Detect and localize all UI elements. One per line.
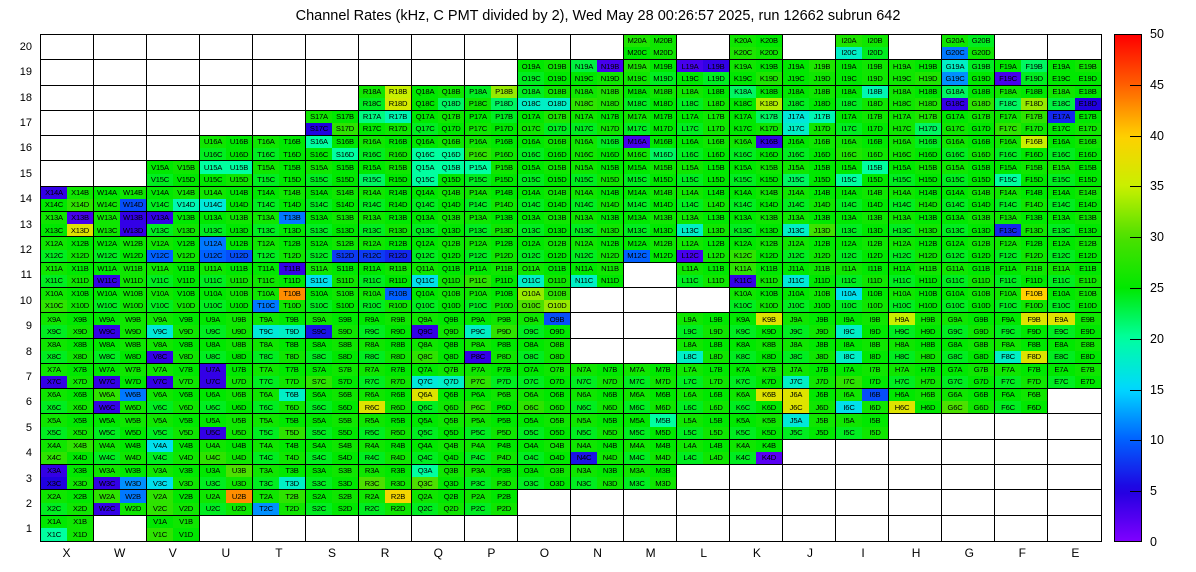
channel-R13A[interactable]: R13A <box>359 212 385 224</box>
channel-I13D[interactable]: I13D <box>862 224 888 236</box>
channel-Q4A[interactable]: Q4A <box>412 440 438 452</box>
heatmap-cell-Q20[interactable] <box>412 35 465 60</box>
heatmap-cell-J13[interactable]: J13AJ13BJ13CJ13D <box>783 212 836 237</box>
channel-H11B[interactable]: H11B <box>915 263 941 275</box>
channel-R2C[interactable]: R2C <box>359 503 385 515</box>
channel-G6A[interactable]: G6A <box>942 389 968 401</box>
heatmap-cell-Q1[interactable] <box>412 516 465 541</box>
channel-P4D[interactable]: P4D <box>491 452 517 464</box>
channel-V13A[interactable]: V13A <box>147 212 173 224</box>
heatmap-cell-F10[interactable]: F10AF10BF10CF10D <box>995 288 1048 313</box>
channel-Q8D[interactable]: Q8D <box>438 351 464 363</box>
channel-Q16D[interactable]: Q16D <box>438 148 464 160</box>
heatmap-cell-P7[interactable]: P7AP7BP7CP7D <box>465 364 518 389</box>
channel-L8B[interactable]: L8B <box>703 339 729 351</box>
channel-W4D[interactable]: W4D <box>120 452 146 464</box>
channel-O5D[interactable]: O5D <box>544 427 570 439</box>
heatmap-cell-O10[interactable]: O10AO10BO10CO10D <box>518 288 571 313</box>
channel-N13A[interactable]: N13A <box>571 212 597 224</box>
channel-E17B[interactable]: E17B <box>1075 111 1102 123</box>
channel-U16D[interactable]: U16D <box>226 148 252 160</box>
heatmap-cell-J3[interactable] <box>783 465 836 490</box>
channel-P14C[interactable]: P14C <box>465 199 491 211</box>
channel-P12C[interactable]: P12C <box>465 250 491 262</box>
channel-Q9D[interactable]: Q9D <box>438 325 464 337</box>
channel-I19A[interactable]: I19A <box>836 60 862 72</box>
heatmap-cell-W19[interactable] <box>94 60 147 85</box>
channel-L17C[interactable]: L17C <box>677 123 703 135</box>
channel-Q10A[interactable]: Q10A <box>412 288 438 300</box>
channel-F12B[interactable]: F12B <box>1021 237 1047 249</box>
channel-R17C[interactable]: R17C <box>359 123 385 135</box>
heatmap-cell-V13[interactable]: V13AV13BV13CV13D <box>147 212 200 237</box>
heatmap-cell-G7[interactable]: G7AG7BG7CG7D <box>942 364 995 389</box>
channel-U8C[interactable]: U8C <box>200 351 226 363</box>
channel-S15B[interactable]: S15B <box>332 161 358 173</box>
channel-F15D[interactable]: F15D <box>1021 174 1047 186</box>
heatmap-cell-E14[interactable]: E14AE14BE14CE14D <box>1048 187 1101 212</box>
channel-O17B[interactable]: O17B <box>544 111 570 123</box>
channel-K19B[interactable]: K19B <box>756 60 782 72</box>
channel-L11A[interactable]: L11A <box>677 263 703 275</box>
channel-Q6D[interactable]: Q6D <box>438 401 464 413</box>
channel-I11C[interactable]: I11C <box>836 275 862 287</box>
heatmap-cell-L5[interactable]: L5AL5BL5CL5D <box>677 414 730 439</box>
channel-G7C[interactable]: G7C <box>942 376 968 388</box>
channel-S10D[interactable]: S10D <box>332 300 358 312</box>
heatmap-cell-W3[interactable]: W3AW3BW3CW3D <box>94 465 147 490</box>
heatmap-cell-I6[interactable]: I6AI6BI6CI6D <box>836 389 889 414</box>
channel-M4D[interactable]: M4D <box>650 452 676 464</box>
channel-T9C[interactable]: T9C <box>253 325 279 337</box>
channel-I10D[interactable]: I10D <box>862 300 888 312</box>
channel-N14A[interactable]: N14A <box>571 187 597 199</box>
heatmap-cell-T7[interactable]: T7AT7BT7CT7D <box>253 364 306 389</box>
heatmap-cell-L1[interactable] <box>677 516 730 541</box>
channel-L9B[interactable]: L9B <box>703 313 729 325</box>
channel-O11C[interactable]: O11C <box>518 275 544 287</box>
channel-T2A[interactable]: T2A <box>253 490 279 502</box>
channel-O4D[interactable]: O4D <box>544 452 570 464</box>
channel-K15B[interactable]: K15B <box>756 161 782 173</box>
channel-K11A[interactable]: K11A <box>730 263 756 275</box>
channel-K16A[interactable]: K16A <box>730 136 756 148</box>
channel-W9C[interactable]: W9C <box>94 325 120 337</box>
channel-N18B[interactable]: N18B <box>597 86 623 98</box>
channel-L14A[interactable]: L14A <box>677 187 703 199</box>
channel-K13A[interactable]: K13A <box>730 212 756 224</box>
channel-L13B[interactable]: L13B <box>703 212 729 224</box>
channel-W10D[interactable]: W10D <box>120 300 146 312</box>
heatmap-cell-X9[interactable]: X9AX9BX9CX9D <box>41 313 94 338</box>
channel-U14D[interactable]: U14D <box>226 199 252 211</box>
channel-P3B[interactable]: P3B <box>491 465 517 477</box>
channel-M6B[interactable]: M6B <box>650 389 676 401</box>
channel-P12D[interactable]: P12D <box>491 250 517 262</box>
channel-F6D[interactable]: F6D <box>1021 401 1047 413</box>
channel-Q10D[interactable]: Q10D <box>438 300 464 312</box>
channel-I8A[interactable]: I8A <box>836 339 862 351</box>
channel-Q11C[interactable]: Q11C <box>412 275 438 287</box>
channel-O3C[interactable]: O3C <box>518 477 544 489</box>
heatmap-cell-O12[interactable]: O12AO12BO12CO12D <box>518 237 571 262</box>
channel-S3A[interactable]: S3A <box>306 465 332 477</box>
channel-I18A[interactable]: I18A <box>836 86 862 98</box>
channel-R9D[interactable]: R9D <box>385 325 411 337</box>
heatmap-cell-J7[interactable]: J7AJ7BJ7CJ7D <box>783 364 836 389</box>
channel-W14C[interactable]: W14C <box>94 199 120 211</box>
channel-M17A[interactable]: M17A <box>624 111 650 123</box>
channel-O19A[interactable]: O19A <box>518 60 544 72</box>
heatmap-cell-M6[interactable]: M6AM6BM6CM6D <box>624 389 677 414</box>
channel-L6D[interactable]: L6D <box>703 401 729 413</box>
heatmap-cell-W20[interactable] <box>94 35 147 60</box>
channel-F13A[interactable]: F13A <box>995 212 1021 224</box>
channel-I16D[interactable]: I16D <box>862 148 888 160</box>
channel-O12A[interactable]: O12A <box>518 237 544 249</box>
channel-T14A[interactable]: T14A <box>253 187 279 199</box>
heatmap-cell-R4[interactable]: R4AR4BR4CR4D <box>359 440 412 465</box>
channel-S7B[interactable]: S7B <box>332 364 358 376</box>
channel-O17D[interactable]: O17D <box>544 123 570 135</box>
heatmap-cell-N16[interactable]: N16AN16BN16CN16D <box>571 136 624 161</box>
channel-U2A[interactable]: U2A <box>200 490 226 502</box>
heatmap-cell-N13[interactable]: N13AN13BN13CN13D <box>571 212 624 237</box>
channel-O6A[interactable]: O6A <box>518 389 544 401</box>
channel-G13A[interactable]: G13A <box>942 212 968 224</box>
heatmap-cell-K4[interactable]: K4AK4BK4CK4D <box>730 440 783 465</box>
channel-G7B[interactable]: G7B <box>968 364 994 376</box>
channel-L11C[interactable]: L11C <box>677 275 703 287</box>
heatmap-cell-E13[interactable]: E13AE13BE13CE13D <box>1048 212 1101 237</box>
channel-T12D[interactable]: T12D <box>279 250 305 262</box>
channel-J15B[interactable]: J15B <box>809 161 835 173</box>
channel-E7D[interactable]: E7D <box>1075 376 1102 388</box>
heatmap-cell-F15[interactable]: F15AF15BF15CF15D <box>995 161 1048 186</box>
channel-W9A[interactable]: W9A <box>94 313 120 325</box>
heatmap-cell-K14[interactable]: K14AK14BK14CK14D <box>730 187 783 212</box>
channel-U2C[interactable]: U2C <box>200 503 226 515</box>
channel-L14B[interactable]: L14B <box>703 187 729 199</box>
channel-U12D[interactable]: U12D <box>226 250 252 262</box>
heatmap-cell-N18[interactable]: N18AN18BN18CN18D <box>571 86 624 111</box>
heatmap-cell-K6[interactable]: K6AK6BK6CK6D <box>730 389 783 414</box>
heatmap-cell-X1[interactable]: X1AX1BX1CX1D <box>41 516 94 541</box>
channel-R3D[interactable]: R3D <box>385 477 411 489</box>
channel-J15D[interactable]: J15D <box>809 174 835 186</box>
heatmap-cell-F20[interactable] <box>995 35 1048 60</box>
channel-T6D[interactable]: T6D <box>279 401 305 413</box>
channel-K15D[interactable]: K15D <box>756 174 782 186</box>
channel-Q7D[interactable]: Q7D <box>438 376 464 388</box>
heatmap-cell-H20[interactable] <box>889 35 942 60</box>
channel-G14A[interactable]: G14A <box>942 187 968 199</box>
channel-V9B[interactable]: V9B <box>173 313 199 325</box>
channel-O10B[interactable]: O10B <box>544 288 570 300</box>
channel-X3C[interactable]: X3C <box>41 477 67 489</box>
channel-P11C[interactable]: P11C <box>465 275 491 287</box>
channel-O11A[interactable]: O11A <box>518 263 544 275</box>
heatmap-cell-P20[interactable] <box>465 35 518 60</box>
heatmap-cell-L9[interactable]: L9AL9BL9CL9D <box>677 313 730 338</box>
channel-P6B[interactable]: P6B <box>491 389 517 401</box>
heatmap-cell-K17[interactable]: K17AK17BK17CK17D <box>730 111 783 136</box>
channel-I17C[interactable]: I17C <box>836 123 862 135</box>
channel-H17C[interactable]: H17C <box>889 123 915 135</box>
channel-R5A[interactable]: R5A <box>359 414 385 426</box>
channel-R12B[interactable]: R12B <box>385 237 411 249</box>
channel-U12B[interactable]: U12B <box>226 237 252 249</box>
channel-K7D[interactable]: K7D <box>756 376 782 388</box>
heatmap-cell-L18[interactable]: L18AL18BL18CL18D <box>677 86 730 111</box>
channel-I6B[interactable]: I6B <box>862 389 888 401</box>
channel-T16C[interactable]: T16C <box>253 148 279 160</box>
channel-G6C[interactable]: G6C <box>942 401 968 413</box>
channel-V15C[interactable]: V15C <box>147 174 173 186</box>
channel-I5B[interactable]: I5B <box>862 414 888 426</box>
channel-E14B[interactable]: E14B <box>1075 187 1102 199</box>
channel-W7C[interactable]: W7C <box>94 376 120 388</box>
heatmap-cell-X4[interactable]: X4AX4BX4CX4D <box>41 440 94 465</box>
channel-S7A[interactable]: S7A <box>306 364 332 376</box>
heatmap-cell-I17[interactable]: I17AI17BI17CI17D <box>836 111 889 136</box>
channel-K20A[interactable]: K20A <box>730 35 756 47</box>
channel-J5D[interactable]: J5D <box>809 427 835 439</box>
heatmap-cell-X8[interactable]: X8AX8BX8CX8D <box>41 339 94 364</box>
heatmap-cell-E7[interactable]: E7AE7BE7CE7D <box>1048 364 1101 389</box>
heatmap-cell-K18[interactable]: K18AK18BK18CK18D <box>730 86 783 111</box>
channel-M6A[interactable]: M6A <box>624 389 650 401</box>
heatmap-cell-X13[interactable]: X13AX13BX13CX13D <box>41 212 94 237</box>
channel-W12A[interactable]: W12A <box>94 237 120 249</box>
heatmap-cell-M19[interactable]: M19AM19BM19CM19D <box>624 60 677 85</box>
channel-X4D[interactable]: X4D <box>67 452 93 464</box>
channel-W7B[interactable]: W7B <box>120 364 146 376</box>
channel-S15C[interactable]: S15C <box>306 174 332 186</box>
channel-H19D[interactable]: H19D <box>915 72 941 84</box>
heatmap-cell-K5[interactable]: K5AK5BK5CK5D <box>730 414 783 439</box>
channel-T2C[interactable]: T2C <box>253 503 279 515</box>
channel-E11D[interactable]: E11D <box>1075 275 1102 287</box>
channel-K6A[interactable]: K6A <box>730 389 756 401</box>
channel-N3B[interactable]: N3B <box>597 465 623 477</box>
channel-L8D[interactable]: L8D <box>703 351 729 363</box>
channel-M7A[interactable]: M7A <box>624 364 650 376</box>
channel-L12B[interactable]: L12B <box>703 237 729 249</box>
heatmap-cell-J1[interactable] <box>783 516 836 541</box>
channel-M20B[interactable]: M20B <box>650 35 676 47</box>
channel-I13C[interactable]: I13C <box>836 224 862 236</box>
heatmap-cell-R8[interactable]: R8AR8BR8CR8D <box>359 339 412 364</box>
channel-T8A[interactable]: T8A <box>253 339 279 351</box>
channel-K18A[interactable]: K18A <box>730 86 756 98</box>
channel-W8A[interactable]: W8A <box>94 339 120 351</box>
channel-K20C[interactable]: K20C <box>730 47 756 59</box>
channel-K15C[interactable]: K15C <box>730 174 756 186</box>
heatmap-cell-P3[interactable]: P3AP3BP3CP3D <box>465 465 518 490</box>
heatmap-cell-M13[interactable]: M13AM13BM13CM13D <box>624 212 677 237</box>
channel-N17C[interactable]: N17C <box>571 123 597 135</box>
channel-O9C[interactable]: O9C <box>518 325 544 337</box>
channel-I8B[interactable]: I8B <box>862 339 888 351</box>
channel-V11D[interactable]: V11D <box>173 275 199 287</box>
channel-I18B[interactable]: I18B <box>862 86 888 98</box>
channel-O5A[interactable]: O5A <box>518 414 544 426</box>
channel-E10A[interactable]: E10A <box>1048 288 1075 300</box>
channel-S8C[interactable]: S8C <box>306 351 332 363</box>
heatmap-cell-I20[interactable]: I20AI20BI20CI20D <box>836 35 889 60</box>
heatmap-cell-Q18[interactable]: Q18AQ18BQ18CQ18D <box>412 86 465 111</box>
channel-X1A[interactable]: X1A <box>41 516 67 529</box>
channel-J15A[interactable]: J15A <box>783 161 809 173</box>
channel-T12C[interactable]: T12C <box>253 250 279 262</box>
channel-K14A[interactable]: K14A <box>730 187 756 199</box>
channel-I20D[interactable]: I20D <box>862 47 888 59</box>
heatmap-cell-H3[interactable] <box>889 465 942 490</box>
channel-I7B[interactable]: I7B <box>862 364 888 376</box>
heatmap-cell-I14[interactable]: I14AI14BI14CI14D <box>836 187 889 212</box>
channel-R12A[interactable]: R12A <box>359 237 385 249</box>
channel-N14C[interactable]: N14C <box>571 199 597 211</box>
channel-R18D[interactable]: R18D <box>385 98 411 110</box>
channel-R16A[interactable]: R16A <box>359 136 385 148</box>
channel-N17B[interactable]: N17B <box>597 111 623 123</box>
heatmap-cell-S13[interactable]: S13AS13BS13CS13D <box>306 212 359 237</box>
heatmap-cell-Q12[interactable]: Q12AQ12BQ12CQ12D <box>412 237 465 262</box>
channel-H11D[interactable]: H11D <box>915 275 941 287</box>
heatmap-cell-G17[interactable]: G17AG17BG17CG17D <box>942 111 995 136</box>
channel-I12B[interactable]: I12B <box>862 237 888 249</box>
channel-G20C[interactable]: G20C <box>942 47 968 59</box>
channel-L19D[interactable]: L19D <box>703 72 729 84</box>
channel-U16B[interactable]: U16B <box>226 136 252 148</box>
channel-S12B[interactable]: S12B <box>332 237 358 249</box>
channel-F16C[interactable]: F16C <box>995 148 1021 160</box>
channel-Q8C[interactable]: Q8C <box>412 351 438 363</box>
channel-P17B[interactable]: P17B <box>491 111 517 123</box>
channel-F12D[interactable]: F12D <box>1021 250 1047 262</box>
heatmap-cell-T11[interactable]: T11AT11BT11CT11D <box>253 263 306 288</box>
channel-X12A[interactable]: X12A <box>41 237 67 249</box>
channel-E7A[interactable]: E7A <box>1048 364 1075 376</box>
channel-P16D[interactable]: P16D <box>491 148 517 160</box>
channel-F19B[interactable]: F19B <box>1021 60 1047 72</box>
channel-T6B[interactable]: T6B <box>279 389 305 401</box>
channel-F19A[interactable]: F19A <box>995 60 1021 72</box>
channel-H17B[interactable]: H17B <box>915 111 941 123</box>
heatmap-cell-H4[interactable] <box>889 440 942 465</box>
channel-K4A[interactable]: K4A <box>730 440 756 452</box>
channel-T4B[interactable]: T4B <box>279 440 305 452</box>
heatmap-cell-R17[interactable]: R17AR17BR17CR17D <box>359 111 412 136</box>
heatmap-cell-X12[interactable]: X12AX12BX12CX12D <box>41 237 94 262</box>
heatmap-cell-F9[interactable]: F9AF9BF9CF9D <box>995 313 1048 338</box>
channel-K20D[interactable]: K20D <box>756 47 782 59</box>
channel-V9D[interactable]: V9D <box>173 325 199 337</box>
channel-S4C[interactable]: S4C <box>306 452 332 464</box>
channel-T5C[interactable]: T5C <box>253 427 279 439</box>
channel-U9B[interactable]: U9B <box>226 313 252 325</box>
channel-W8D[interactable]: W8D <box>120 351 146 363</box>
channel-H16A[interactable]: H16A <box>889 136 915 148</box>
channel-U4C[interactable]: U4C <box>200 452 226 464</box>
channel-F12C[interactable]: F12C <box>995 250 1021 262</box>
channel-X6C[interactable]: X6C <box>41 401 67 413</box>
channel-M14A[interactable]: M14A <box>624 187 650 199</box>
channel-X6D[interactable]: X6D <box>67 401 93 413</box>
channel-W3D[interactable]: W3D <box>120 477 146 489</box>
channel-O16A[interactable]: O16A <box>518 136 544 148</box>
heatmap-cell-S3[interactable]: S3AS3BS3CS3D <box>306 465 359 490</box>
channel-S17A[interactable]: S17A <box>306 111 332 123</box>
channel-O11D[interactable]: O11D <box>544 275 570 287</box>
heatmap-cell-H7[interactable]: H7AH7BH7CH7D <box>889 364 942 389</box>
channel-N3D[interactable]: N3D <box>597 477 623 489</box>
channel-S6D[interactable]: S6D <box>332 401 358 413</box>
heatmap-cell-V18[interactable] <box>147 86 200 111</box>
channel-S4B[interactable]: S4B <box>332 440 358 452</box>
channel-W6A[interactable]: W6A <box>94 389 120 401</box>
heatmap-cell-M3[interactable]: M3AM3BM3CM3D <box>624 465 677 490</box>
channel-U9A[interactable]: U9A <box>200 313 226 325</box>
channel-R7B[interactable]: R7B <box>385 364 411 376</box>
heatmap-cell-L20[interactable] <box>677 35 730 60</box>
channel-J5C[interactable]: J5C <box>783 427 809 439</box>
channel-W6C[interactable]: W6C <box>94 401 120 413</box>
channel-X5A[interactable]: X5A <box>41 414 67 426</box>
channel-W9B[interactable]: W9B <box>120 313 146 325</box>
channel-V10A[interactable]: V10A <box>147 288 173 300</box>
channel-W11D[interactable]: W11D <box>120 275 146 287</box>
channel-H13B[interactable]: H13B <box>915 212 941 224</box>
heatmap-cell-E10[interactable]: E10AE10BE10CE10D <box>1048 288 1101 313</box>
channel-Q3A[interactable]: Q3A <box>412 465 438 477</box>
channel-J14B[interactable]: J14B <box>809 187 835 199</box>
channel-K6B[interactable]: K6B <box>756 389 782 401</box>
channel-I17B[interactable]: I17B <box>862 111 888 123</box>
channel-P2A[interactable]: P2A <box>465 490 491 502</box>
channel-S16A[interactable]: S16A <box>306 136 332 148</box>
channel-G17D[interactable]: G17D <box>968 123 994 135</box>
channel-O13C[interactable]: O13C <box>518 224 544 236</box>
channel-N5C[interactable]: N5C <box>571 427 597 439</box>
channel-Q2D[interactable]: Q2D <box>438 503 464 515</box>
channel-N14B[interactable]: N14B <box>597 187 623 199</box>
channel-H15C[interactable]: H15C <box>889 174 915 186</box>
channel-T8C[interactable]: T8C <box>253 351 279 363</box>
channel-G18A[interactable]: G18A <box>942 86 968 98</box>
channel-M7C[interactable]: M7C <box>624 376 650 388</box>
channel-Q14B[interactable]: Q14B <box>438 187 464 199</box>
channel-L7C[interactable]: L7C <box>677 376 703 388</box>
channel-M7B[interactable]: M7B <box>650 364 676 376</box>
channel-Q15A[interactable]: Q15A <box>412 161 438 173</box>
channel-M13A[interactable]: M13A <box>624 212 650 224</box>
channel-R11C[interactable]: R11C <box>359 275 385 287</box>
heatmap-cell-O1[interactable] <box>518 516 571 541</box>
heatmap-cell-G13[interactable]: G13AG13BG13CG13D <box>942 212 995 237</box>
channel-N6A[interactable]: N6A <box>571 389 597 401</box>
heatmap-cell-L10[interactable] <box>677 288 730 313</box>
channel-P8B[interactable]: P8B <box>491 339 517 351</box>
channel-L15B[interactable]: L15B <box>703 161 729 173</box>
channel-K17B[interactable]: K17B <box>756 111 782 123</box>
heatmap-cell-M1[interactable] <box>624 516 677 541</box>
channel-P3D[interactable]: P3D <box>491 477 517 489</box>
channel-X11D[interactable]: X11D <box>67 275 93 287</box>
channel-I6D[interactable]: I6D <box>862 401 888 413</box>
channel-U5A[interactable]: U5A <box>200 414 226 426</box>
